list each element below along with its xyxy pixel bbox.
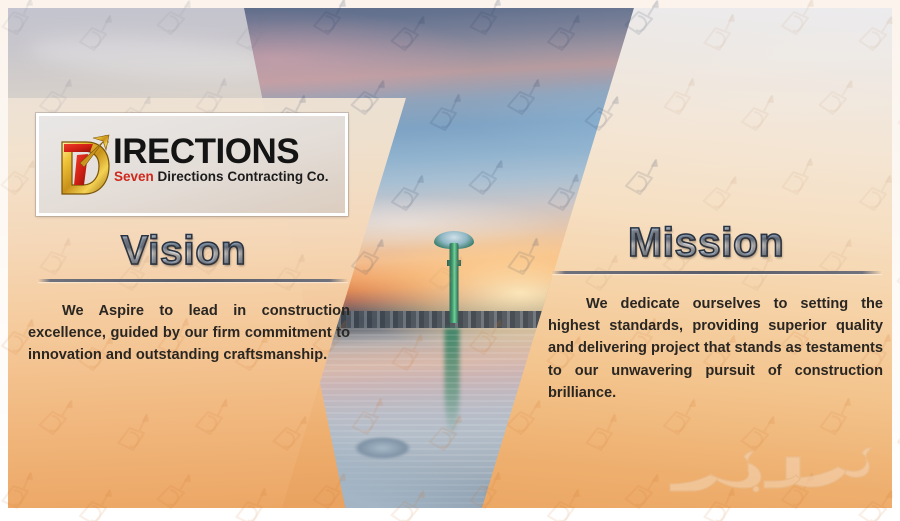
cloud-band [567, 177, 892, 225]
cloud-band [607, 75, 892, 145]
brand-tagline: Seven Directions Contracting Co. [114, 169, 329, 185]
water-tower-shaft [449, 243, 458, 323]
company-logo-panel: IRECTIONS Seven Directions Contracting C… [36, 113, 348, 216]
cloud-band [27, 29, 289, 87]
slide-canvas: IRECTIONS Seven Directions Contracting C… [0, 0, 900, 521]
brand-tagline-rest: Directions Contracting Co. [158, 169, 329, 184]
mission-divider [552, 271, 882, 274]
vision-heading: Vision [121, 230, 246, 271]
brand-tagline-highlight: Seven [114, 169, 154, 184]
directions-d-logo-icon [53, 133, 115, 201]
vision-divider [38, 279, 348, 282]
logo-wordmark: IRECTIONS Seven Directions Contracting C… [113, 129, 329, 185]
vision-body-text: We Aspire to lead in construction excell… [28, 300, 350, 367]
cloud-band [647, 137, 892, 184]
brand-name: IRECTIONS [113, 135, 329, 169]
mission-body-text: We dedicate ourselves to setting the hig… [548, 293, 883, 404]
cloud-band [667, 29, 892, 92]
logo-row: IRECTIONS Seven Directions Contracting C… [39, 129, 345, 201]
mission-heading: Mission [628, 222, 784, 263]
